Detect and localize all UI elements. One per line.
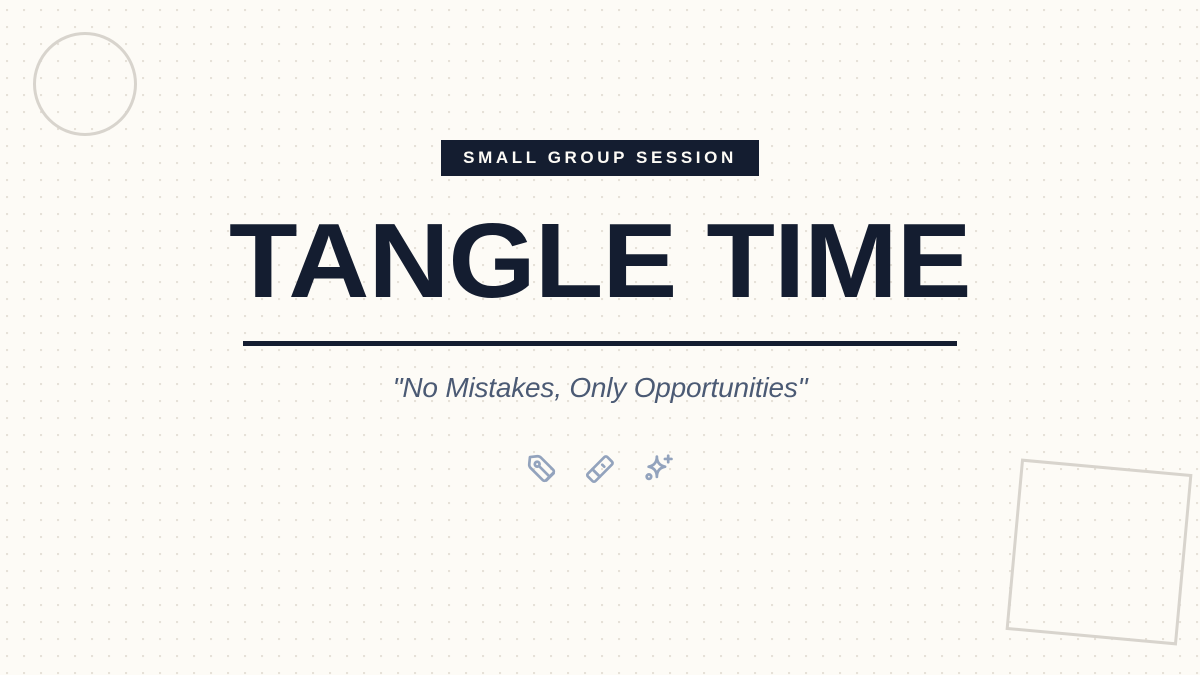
title-divider [243, 341, 957, 346]
sparkles-icon [641, 452, 675, 486]
pen-nib-icon [525, 452, 559, 486]
slide-canvas: SMALL GROUP SESSION TANGLE TIME "No Mist… [0, 0, 1200, 675]
session-badge: SMALL GROUP SESSION [441, 140, 759, 176]
icon-row [525, 452, 675, 486]
paintbrush-icon [583, 452, 617, 486]
slide-title: TANGLE TIME [229, 218, 971, 305]
slide-subtitle: "No Mistakes, Only Opportunities" [393, 372, 808, 404]
slide-content: SMALL GROUP SESSION TANGLE TIME "No Mist… [0, 0, 1200, 675]
session-badge-label: SMALL GROUP SESSION [463, 148, 737, 168]
